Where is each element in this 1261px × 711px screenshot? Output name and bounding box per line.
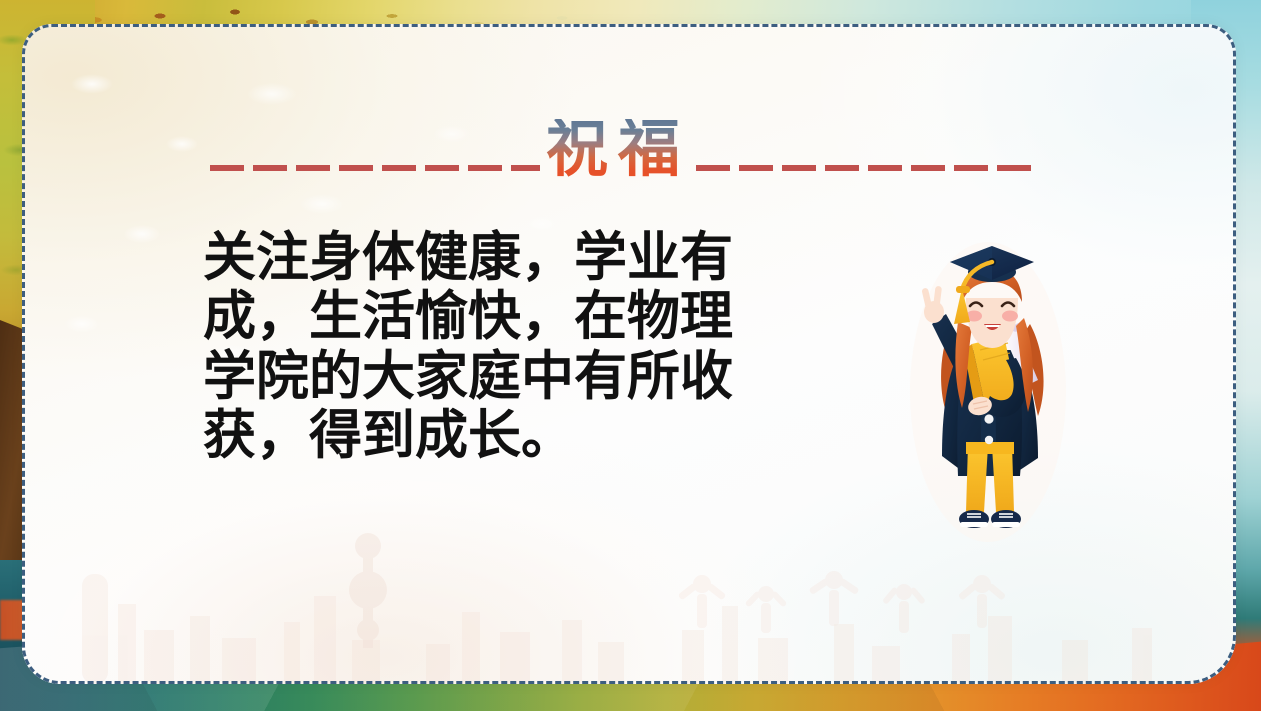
slide-canvas: 祝福 关注身体健康，学业有成，生活愉快，在物理学院的大家庭中有所收获，得到成长。 xyxy=(0,0,1261,711)
body-text: 关注身体健康，学业有成，生活愉快，在物理学院的大家庭中有所收获，得到成长。 xyxy=(203,228,763,465)
title-row: 祝福 xyxy=(200,105,1050,195)
page-title: 祝福 xyxy=(540,119,696,181)
dashed-rule-left xyxy=(210,165,540,171)
graduate-girl-illustration xyxy=(888,232,1088,544)
dashed-rule-right xyxy=(696,165,1040,171)
